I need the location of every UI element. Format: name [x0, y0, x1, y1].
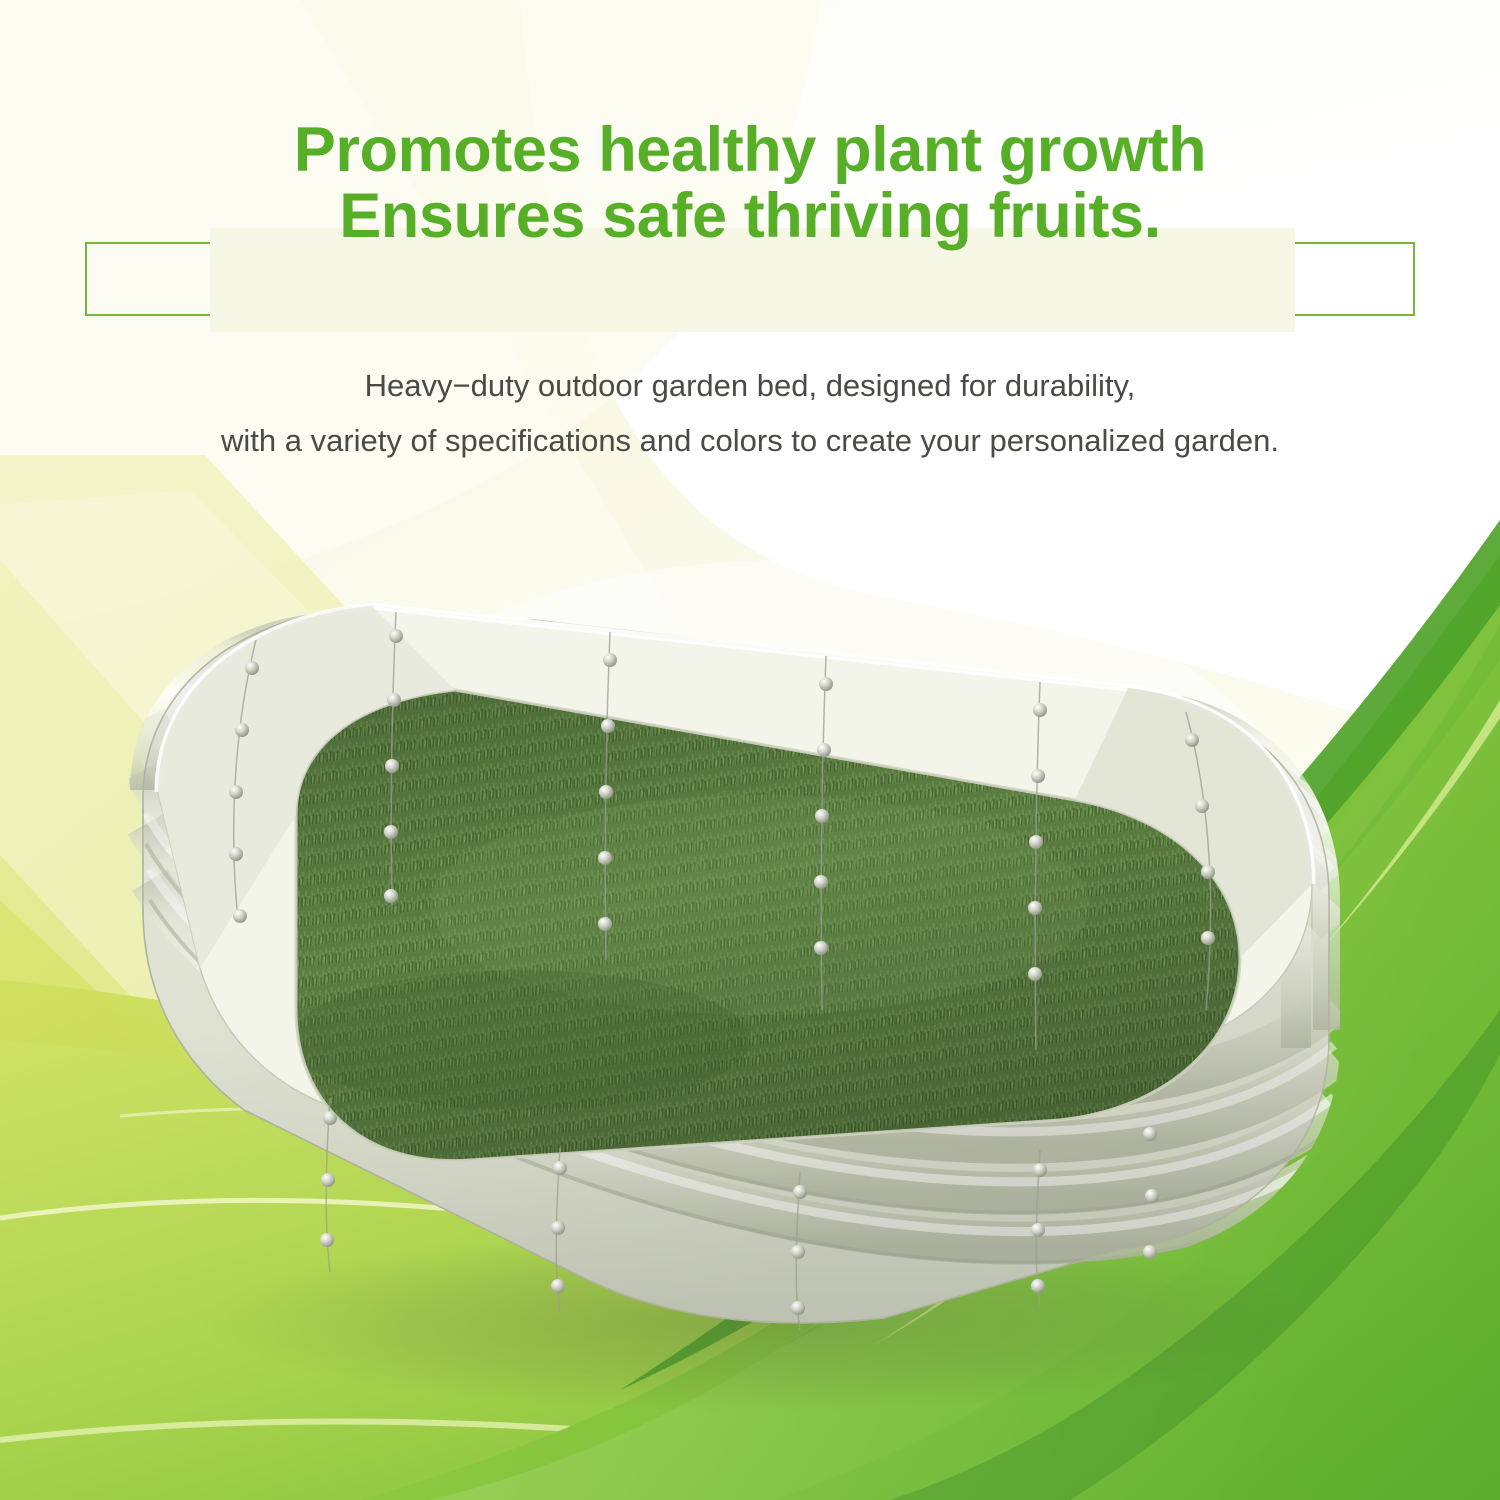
- headline-block: Promotes healthy plant growth Ensures sa…: [0, 0, 1500, 520]
- product-marketing-banner: Promotes healthy plant growth Ensures sa…: [0, 0, 1500, 1500]
- headline-line-2: Ensures safe thriving fruits.: [0, 184, 1500, 250]
- subtitle: Heavy−duty outdoor garden bed, designed …: [0, 358, 1500, 468]
- subtitle-line-1: Heavy−duty outdoor garden bed, designed …: [0, 358, 1500, 413]
- headline-line-1: Promotes healthy plant growth: [0, 118, 1500, 184]
- page-title: Promotes healthy plant growth Ensures sa…: [0, 118, 1500, 249]
- subtitle-line-2: with a variety of specifications and col…: [0, 413, 1500, 468]
